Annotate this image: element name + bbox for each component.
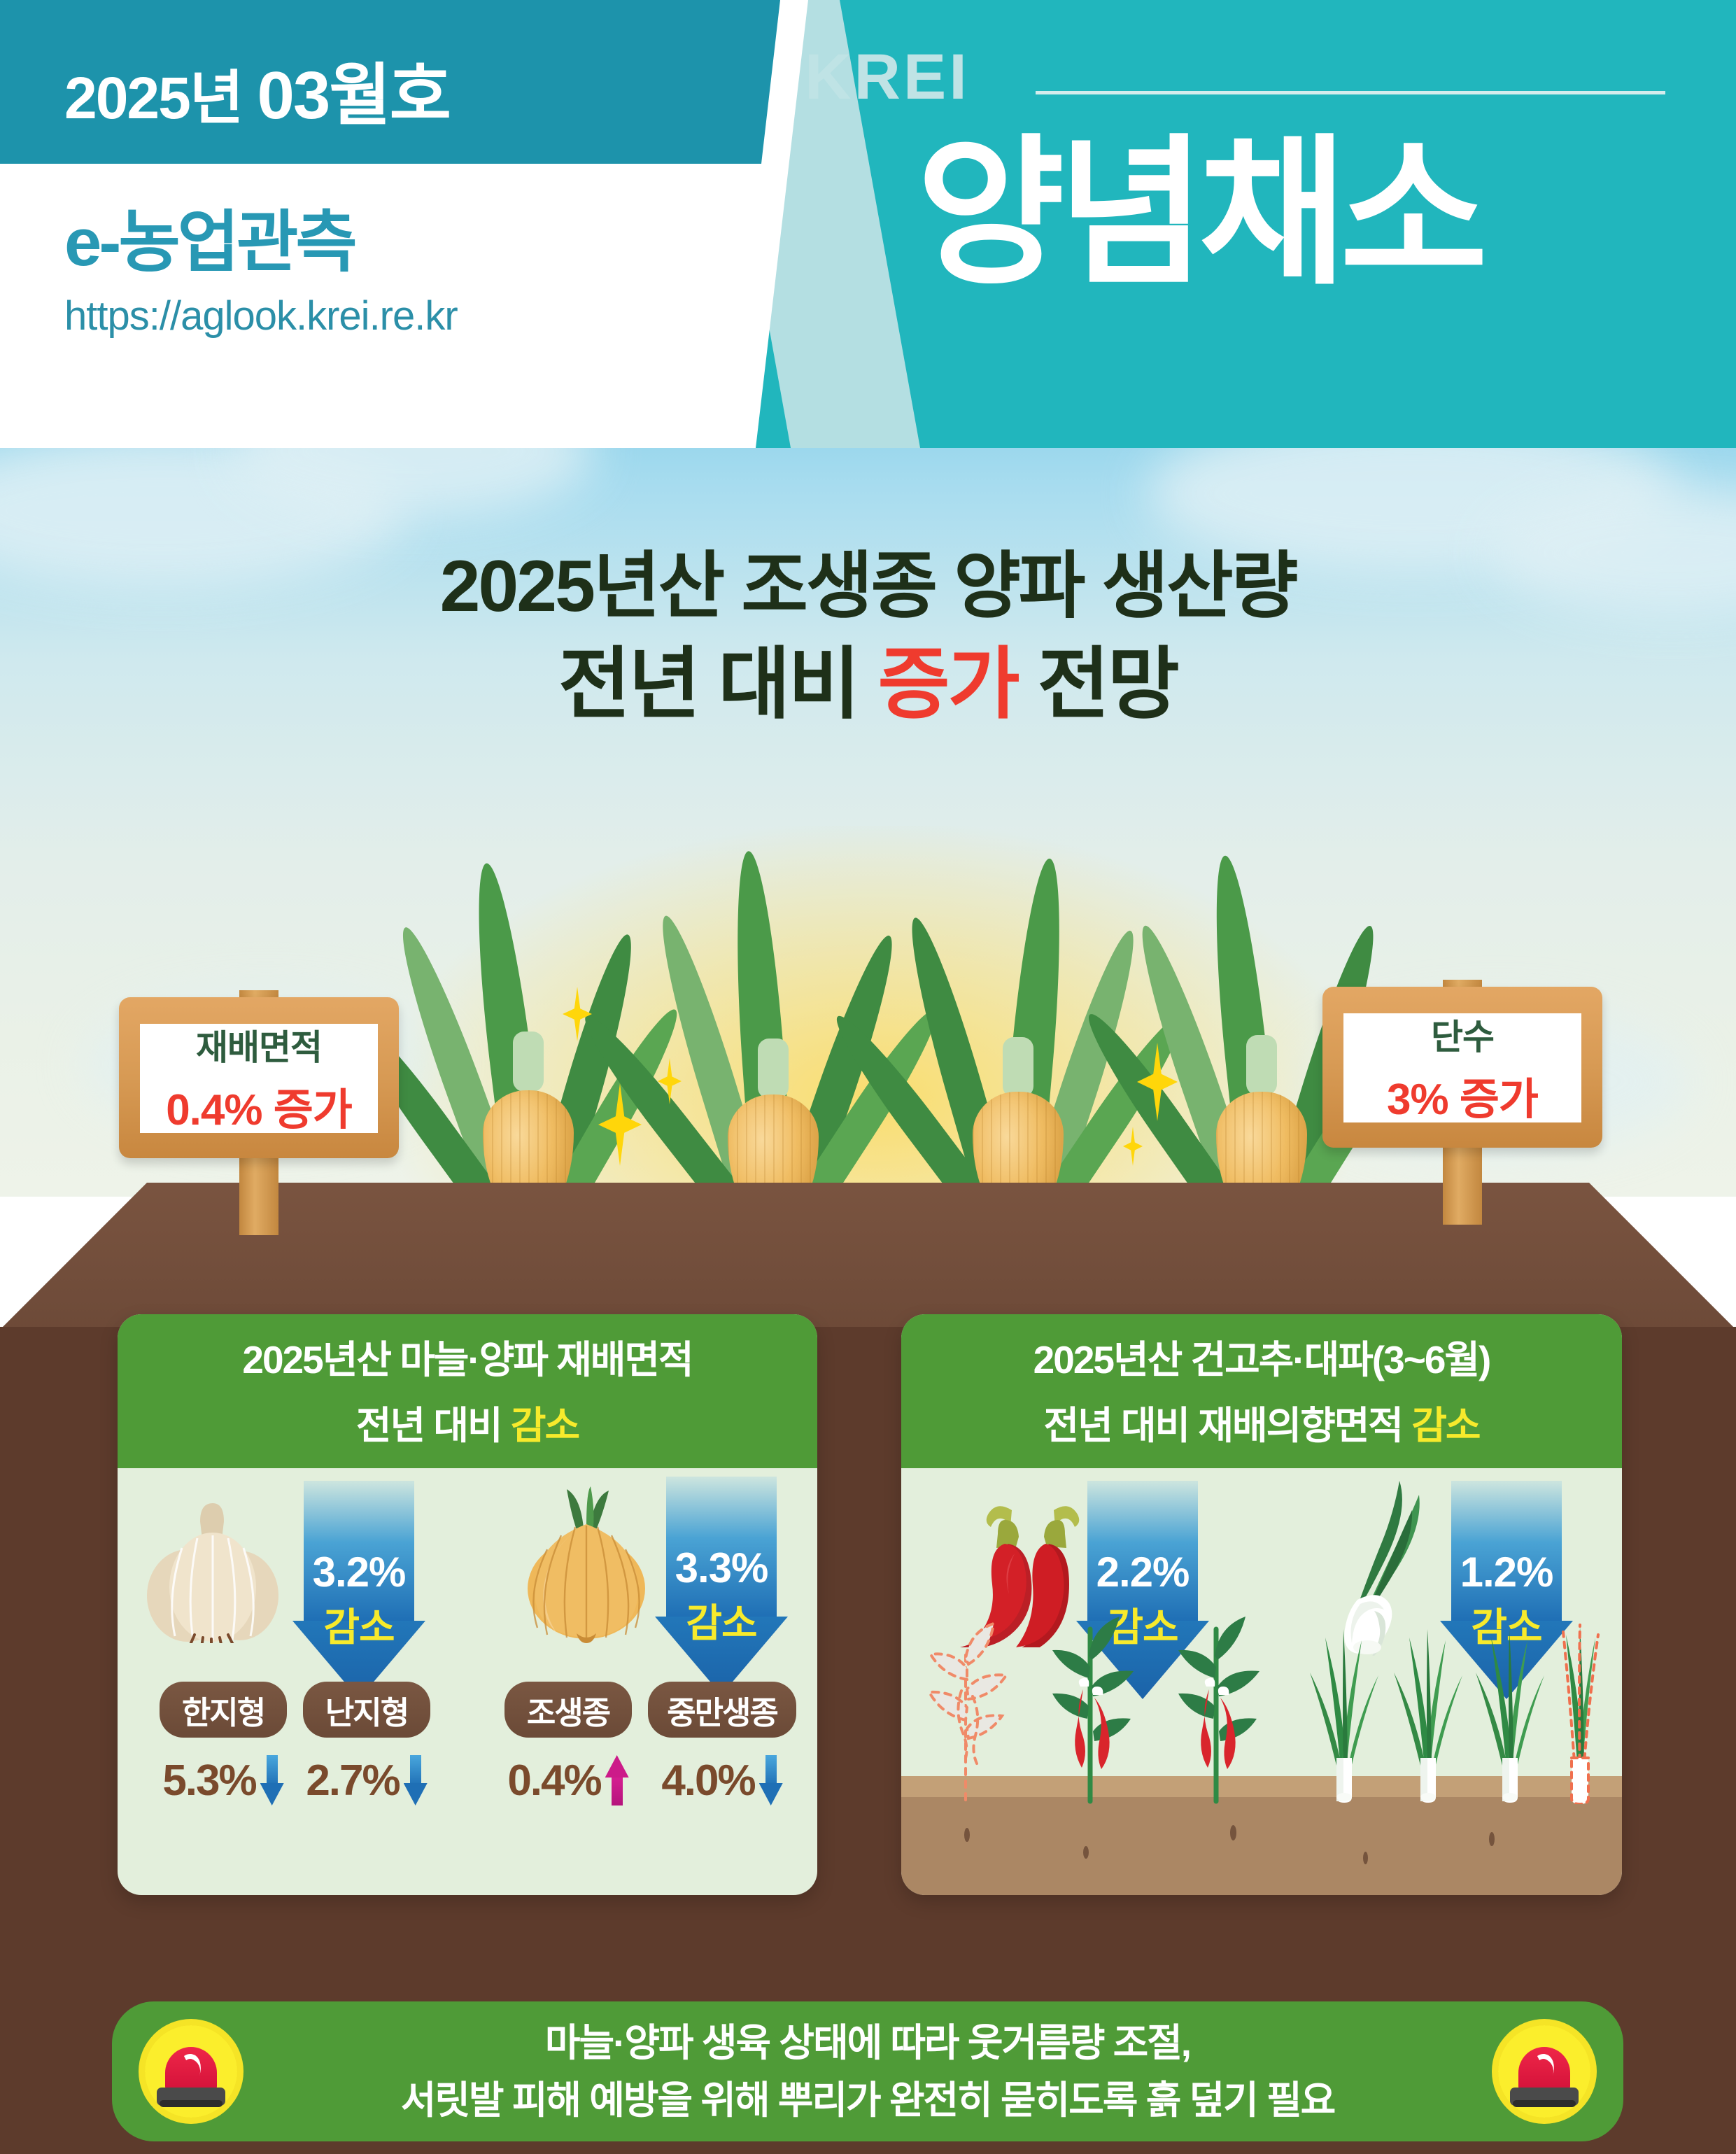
sparkle-icon [1123, 1127, 1143, 1166]
siren-base-shadow [1513, 2100, 1576, 2107]
sign-label: 단수 [1431, 1009, 1494, 1060]
siren-base-shadow [160, 2100, 223, 2107]
headline-line-2: 전년 대비 증가 전망 [0, 637, 1736, 733]
stat-value: 4.0% [661, 1756, 754, 1805]
sign-board: 단수 3% 증가 [1322, 987, 1602, 1148]
footer-text: 마늘·양파 생육 상태에 따라 웃거름량 조절, 서릿발 피해 예방을 위해 뿌… [401, 2014, 1335, 2130]
onion-plant [668, 812, 878, 1204]
sign-board: 재배면적 0.4% 증가 [119, 997, 399, 1158]
panel-pepper-scallion: 2025년산 건고추·대파(3~6월) 전년 대비 재배의향면적 감소 2.2% [901, 1314, 1622, 1895]
headline-suffix: 전망 [1018, 640, 1178, 728]
page-header: 2025년 03월호 e-농업관측 https://aglook.krei.re… [0, 0, 1736, 448]
panel-header-prefix: 전년 대비 재배의향면적 [1043, 1404, 1411, 1447]
garlic-icon [143, 1489, 283, 1643]
arrow-up-icon [605, 1755, 629, 1805]
footer-banner: 마늘·양파 생육 상태에 따라 웃거름량 조절, 서릿발 피해 예방을 위해 뿌… [112, 2001, 1623, 2141]
infographic-poster: 2025년 03월호 e-농업관측 https://aglook.krei.re… [0, 0, 1736, 2154]
krei-logo: KREI [805, 41, 970, 114]
siren-icon [1492, 2019, 1597, 2124]
sign-value: 0.4% 증가 [166, 1074, 352, 1137]
arrow-down-icon [260, 1755, 284, 1805]
panel-header-highlight: 감소 [1411, 1404, 1479, 1447]
panel-garlic-onion: 2025년산 마늘·양파 재배면적 전년 대비 감소 [118, 1314, 817, 1895]
scallion-plant [1299, 1608, 1390, 1804]
brand-url[interactable]: https://aglook.krei.re.kr [64, 293, 458, 339]
pill-onion-early: 조생종 [504, 1682, 632, 1738]
pepper-pct: 2.2% [1076, 1548, 1209, 1596]
onion-plant [423, 812, 633, 1204]
stat-onion-early: 0.4% [504, 1755, 632, 1805]
panel-header: 2025년산 마늘·양파 재배면적 전년 대비 감소 [118, 1314, 817, 1468]
issue-month: 03월호 [257, 58, 450, 133]
arrow-label: 3.3% 감소 [655, 1544, 788, 1649]
stat-value: 2.7% [306, 1756, 399, 1805]
siren-icon [139, 2019, 244, 2124]
footer-line-1: 마늘·양파 생육 상태에 따라 웃거름량 조절, [401, 2014, 1335, 2072]
scallion-pct: 1.2% [1440, 1548, 1573, 1596]
pill-onion-midlate: 중만생종 [648, 1682, 796, 1738]
issue-date: 2025년 03월호 [64, 41, 450, 138]
sign-value: 3% 증가 [1387, 1064, 1538, 1127]
field-row-soil [901, 1797, 1622, 1895]
onion-decrease-arrow: 3.3% 감소 [655, 1477, 788, 1695]
arrow-label: 3.2% 감소 [292, 1548, 425, 1653]
sign-face: 단수 3% 증가 [1343, 1013, 1581, 1122]
pepper-plant [1157, 1608, 1283, 1804]
panel-header-line-1: 2025년산 마늘·양파 재배면적 [118, 1328, 817, 1384]
garlic-pct: 3.2% [292, 1548, 425, 1596]
headline-highlight: 증가 [878, 640, 1018, 728]
stat-garlic-nanji: 2.7% [303, 1755, 430, 1805]
stat-onion-midlate: 4.0% [648, 1755, 796, 1805]
garlic-decrease-arrow: 3.2% 감소 [292, 1481, 425, 1699]
stat-value: 0.4% [507, 1756, 600, 1805]
cultivation-area-sign: 재배면적 0.4% 증가 [105, 969, 413, 1235]
onion-dir: 감소 [655, 1592, 788, 1649]
pill-garlic-hanji: 한지형 [160, 1682, 287, 1738]
panel-header-line-1: 2025년산 건고추·대파(3~6월) [901, 1328, 1622, 1384]
sign-face: 재배면적 0.4% 증가 [140, 1024, 378, 1133]
logo-divider [1036, 91, 1665, 94]
garlic-dir: 감소 [292, 1596, 425, 1653]
brand-name: e-농업관측 [64, 188, 355, 285]
pill-garlic-nanji: 난지형 [303, 1682, 430, 1738]
onion-pct: 3.3% [655, 1544, 788, 1592]
issue-year: 2025년 [64, 65, 242, 131]
pepper-plant-reduced [912, 1615, 1031, 1804]
pepper-plant [1031, 1608, 1157, 1804]
headline-line-1: 2025년산 조생종 양파 생산량 [0, 542, 1736, 631]
arrow-down-icon [759, 1755, 783, 1805]
scallion-plant [1383, 1608, 1474, 1804]
panel-header: 2025년산 건고추·대파(3~6월) 전년 대비 재배의향면적 감소 [901, 1314, 1622, 1468]
onion-plant [913, 812, 1123, 1204]
scallion-plant-reduced [1542, 1607, 1619, 1804]
headline: 2025년산 조생종 양파 생산량 전년 대비 증가 전망 [0, 542, 1736, 733]
headline-prefix: 전년 대비 [558, 640, 877, 728]
stat-garlic-hanji: 5.3% [160, 1755, 287, 1805]
panel-header-line-2: 전년 대비 재배의향면적 감소 [901, 1394, 1622, 1450]
panel-header-highlight: 감소 [511, 1404, 579, 1447]
sign-label: 재배면적 [196, 1020, 322, 1070]
stat-value: 5.3% [162, 1756, 255, 1805]
yield-sign: 단수 3% 증가 [1308, 959, 1616, 1225]
panel-header-line-2: 전년 대비 감소 [118, 1394, 817, 1450]
onion-icon [516, 1485, 656, 1643]
page-title: 양념채소 [917, 133, 1481, 294]
arrow-down-icon [404, 1755, 428, 1805]
footer-line-2: 서릿발 피해 예방을 위해 뿌리가 완전히 묻히도록 흙 덮기 필요 [401, 2071, 1335, 2130]
panel-header-prefix: 전년 대비 [356, 1404, 511, 1447]
